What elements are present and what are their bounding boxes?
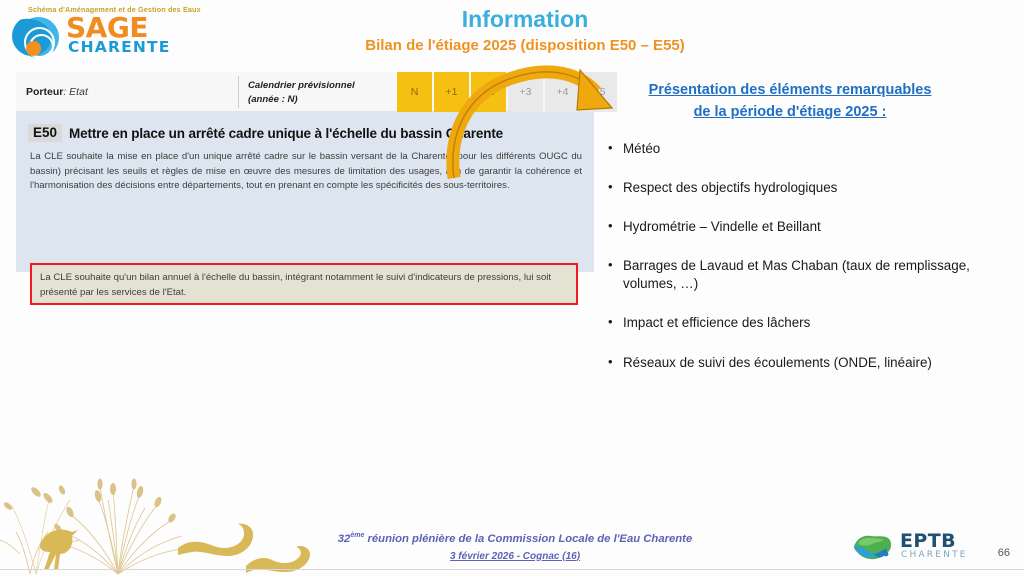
porteur-field: Porteur: Etat [26,86,88,98]
marsh-decoration-illustration [0,456,330,576]
page-subtitle: Bilan de l'étiage 2025 (disposition E50 … [300,37,750,54]
header-divider [238,76,239,108]
highlighted-note-text: La CLE souhaite qu'un bilan annuel à l'é… [40,271,568,301]
footer-line1-rest: réunion plénière de la Commission Locale… [364,533,692,545]
logo-subtitle: CHARENTE [68,40,171,56]
eptb-logo-sub: CHARENTE [901,551,968,560]
list-item: Réseaux de suivi des écoulements (ONDE, … [606,354,978,372]
calendar-cell-+3[interactable]: +3 [508,72,543,112]
disposition-title: Mettre en place un arrêté cadre unique à… [69,126,503,141]
calendar-cell-+4[interactable]: +4 [545,72,580,112]
footer-line1-sup: ème [350,532,364,539]
calendar-label-line1: Calendrier prévisionnel [248,79,388,93]
sage-water-droplet-icon [16,16,62,60]
disposition-code-badge: E50 [28,124,62,142]
disposition-heading: E50 Mettre en place un arrêté cadre uniq… [28,124,503,142]
page-number: 66 [998,547,1010,559]
right-panel-heading-line1: Présentation des éléments remarquables [649,82,932,98]
disposition-card: Porteur: Etat Calendrier prévisionnel (a… [16,72,594,272]
porteur-label: Porteur [26,86,63,98]
right-panel-bullet-list: Météo Respect des objectifs hydrologique… [606,140,978,393]
eptb-logo: EPTB CHARENTE [852,530,982,564]
list-item: Hydrométrie – Vindelle et Beillant [606,218,978,236]
porteur-value: : Etat [63,86,88,98]
footer-line1-prefix: 32 [338,533,351,545]
footer-divider [0,569,1024,570]
footer-caption: 32ème réunion plénière de la Commission … [290,531,740,564]
calendar-cells: N +1 +2 +3 +4 +5 [397,72,617,112]
card-header-row: Porteur: Etat Calendrier prévisionnel (a… [16,72,594,112]
disposition-description: La CLE souhaite la mise en place d'un un… [30,150,582,194]
calendar-label-line2: (année : N) [248,93,388,107]
slide-root: Schéma d'Aménagement et de Gestion des E… [0,0,1024,576]
list-item: Météo [606,140,978,158]
calendar-cell-n[interactable]: N [397,72,432,112]
right-panel-heading: Présentation des éléments remarquables d… [610,80,970,124]
sage-logo: Schéma d'Aménagement et de Gestion des E… [8,2,223,60]
calendar-cell-+2[interactable]: +2 [471,72,506,112]
calendar-label: Calendrier prévisionnel (année : N) [248,79,388,106]
highlighted-note-box: La CLE souhaite qu'un bilan annuel à l'é… [30,263,578,305]
list-item: Impact et efficience des lâchers [606,314,978,332]
charente-basin-map-icon [852,532,894,562]
right-panel-heading-line2: de la période d'étiage 2025 : [694,104,887,120]
card-body: E50 Mettre en place un arrêté cadre uniq… [16,112,594,272]
page-title: Information [330,6,720,33]
eptb-logo-name: EPTB [900,532,956,551]
footer-line2: 3 février 2026 - Cognac (16) [450,551,580,562]
calendar-cell-+1[interactable]: +1 [434,72,469,112]
list-item: Respect des objectifs hydrologiques [606,179,978,197]
list-item: Barrages de Lavaud et Mas Chaban (taux d… [606,257,978,293]
